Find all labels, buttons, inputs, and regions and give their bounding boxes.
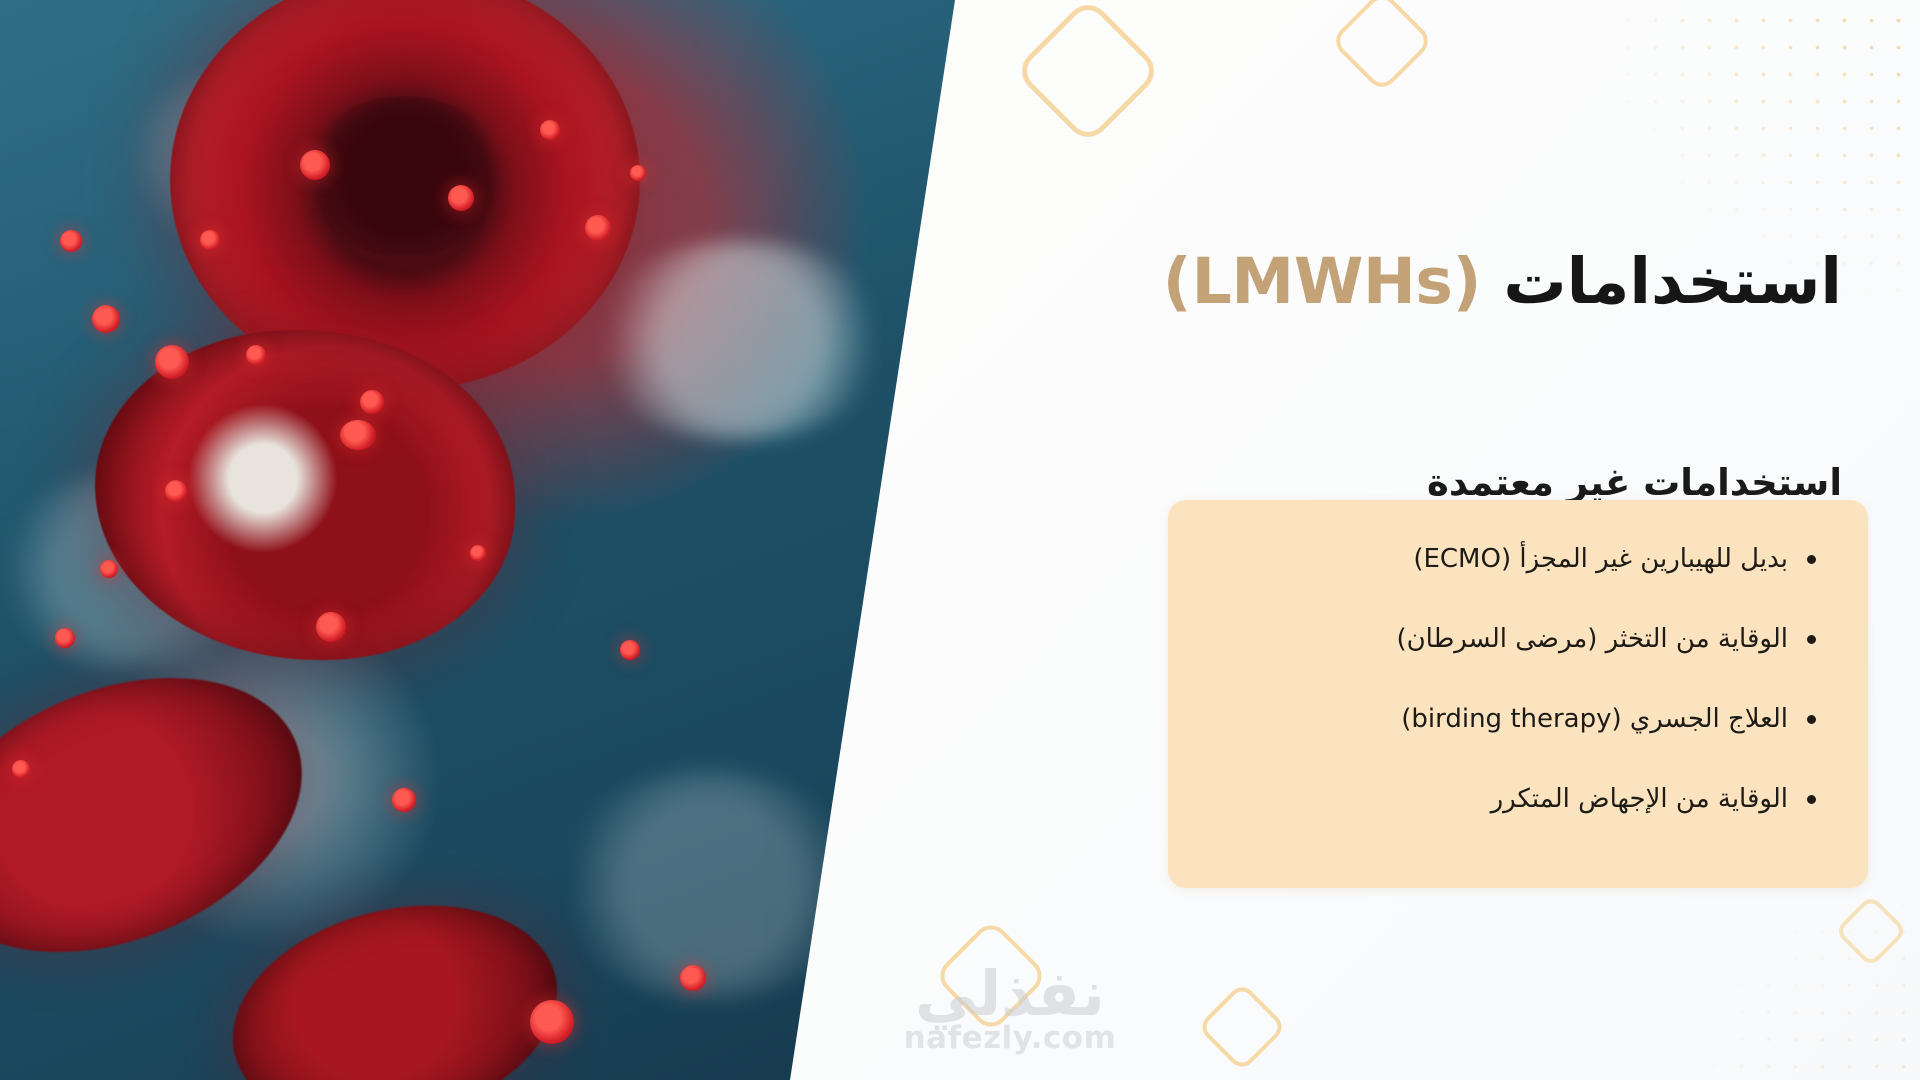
platelet: [246, 345, 266, 365]
platelet: [316, 612, 346, 642]
list-item: الوقاية من الإجهاض المتكرر: [1214, 782, 1822, 817]
list-item: بديل للهيبارين غير المجزأ (ECMO): [1214, 542, 1822, 577]
platelet: [55, 628, 75, 648]
platelet: [620, 640, 640, 660]
section-subtitle: استخدامات غير معتمدة: [842, 461, 1842, 504]
platelet: [92, 305, 120, 333]
bullets-card: بديل للهيبارين غير المجزأ (ECMO) الوقاية…: [1168, 500, 1868, 888]
page-title: استخدامات (LMWHs): [842, 247, 1842, 318]
list-item: الوقاية من التخثر (مرضى السرطان): [1214, 622, 1822, 657]
platelet: [165, 480, 187, 502]
platelet: [340, 420, 376, 450]
title-arabic-text: استخدامات: [1503, 245, 1842, 318]
platelet: [540, 120, 560, 140]
diamond-decor-icon: [1330, 0, 1435, 93]
list-item: العلاج الجسري (birding therapy): [1214, 702, 1822, 737]
diamond-decor-icon: [1197, 982, 1288, 1073]
diamond-decor-icon: [933, 918, 1049, 1034]
platelet: [100, 560, 118, 578]
platelet: [60, 230, 82, 252]
platelet: [680, 965, 706, 991]
platelet: [360, 390, 384, 414]
platelet: [630, 165, 646, 181]
platelet: [300, 150, 330, 180]
slide: استخدامات (LMWHs) استخدامات غير معتمدة ب…: [0, 0, 1920, 1080]
platelet: [470, 545, 486, 561]
title-latin-text: (LMWHs): [1163, 245, 1482, 318]
diamond-decor-icon: [1013, 0, 1163, 146]
halftone-dots-icon: [1480, 0, 1920, 410]
diamond-decor-icon: [1834, 894, 1908, 968]
platelet: [585, 215, 611, 241]
red-blood-cell: [209, 873, 580, 1080]
platelet: [155, 345, 189, 379]
platelet: [12, 760, 30, 778]
bullet-list: بديل للهيبارين غير المجزأ (ECMO) الوقاية…: [1214, 542, 1822, 817]
platelet: [448, 185, 474, 211]
platelet: [392, 788, 416, 812]
red-blood-cell: [170, 0, 640, 390]
platelet: [200, 230, 220, 250]
platelet: [530, 1000, 574, 1044]
